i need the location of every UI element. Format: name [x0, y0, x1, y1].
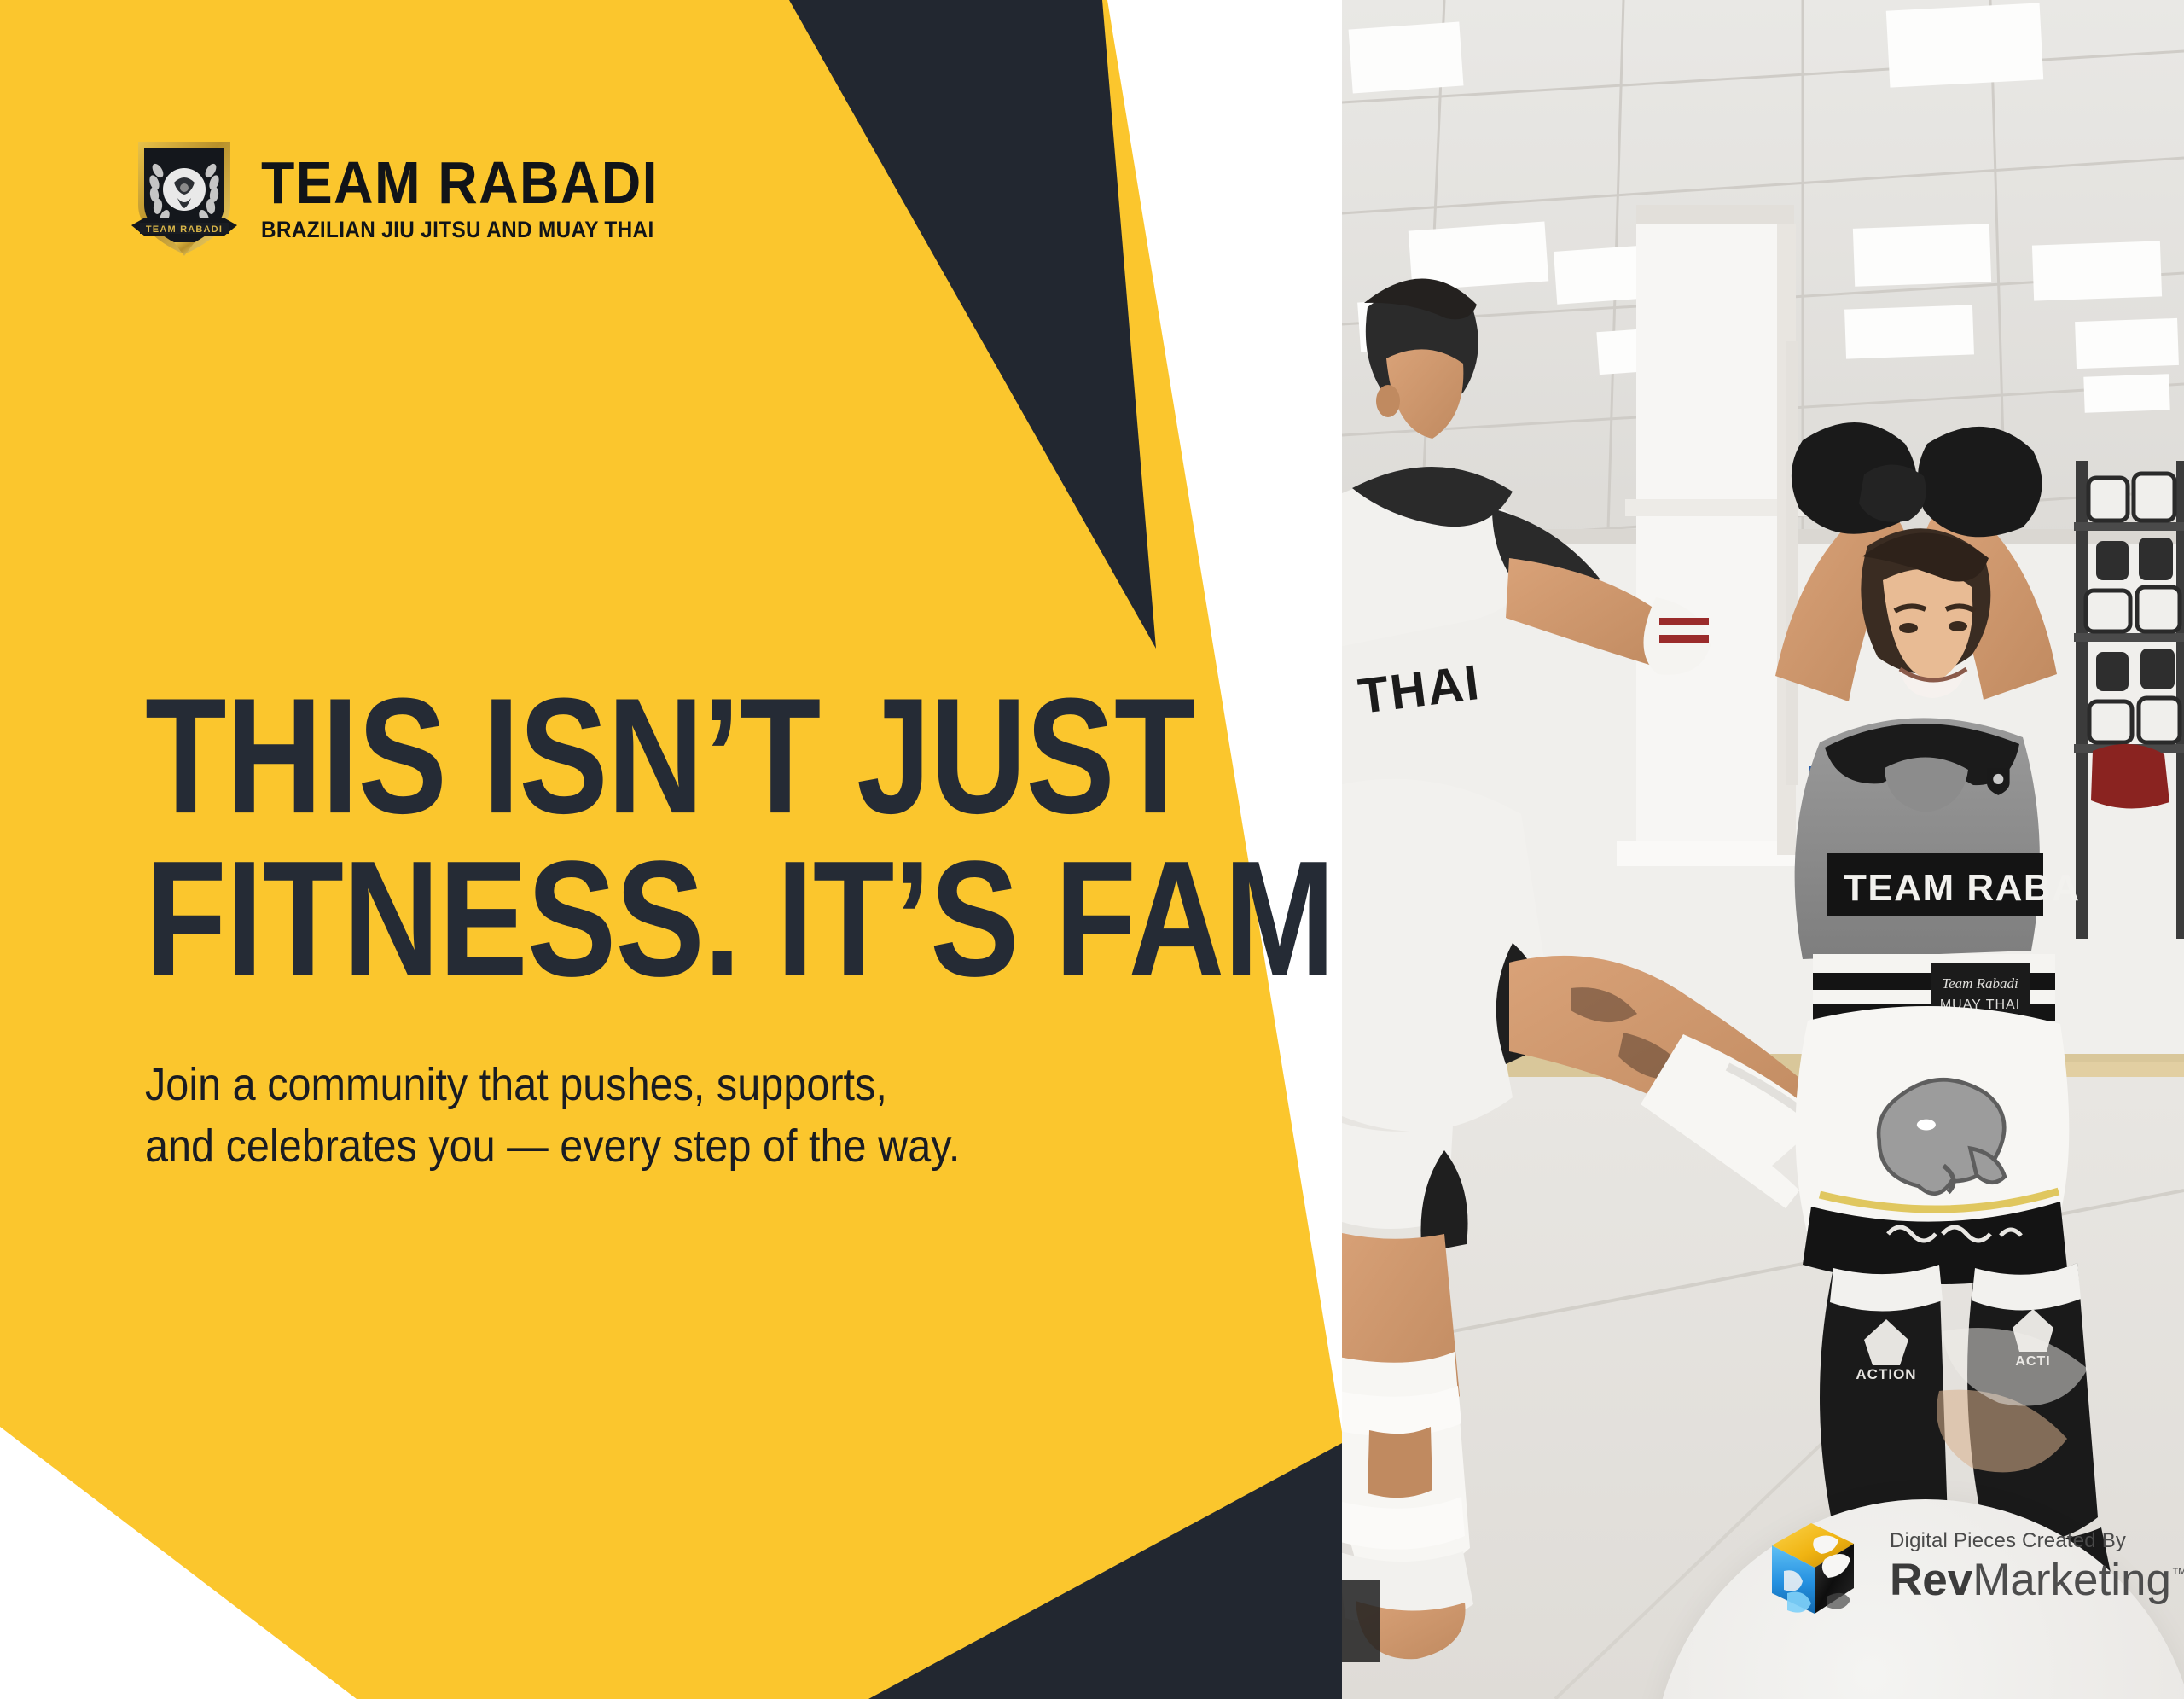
logo-wordmark: TEAM RABADI BRAZILIAN JIU JITSU AND MUAY…: [261, 154, 698, 245]
brand-name: TEAM RABADI: [261, 154, 663, 212]
headline: THIS ISN’T JUST FITNESS. IT’S FAMILY.: [145, 674, 1128, 1000]
revmarketing-credit[interactable]: Digital Pieces Created By RevMarketing™: [1762, 1515, 2184, 1619]
brand-tagline: BRAZILIAN JIU JITSU AND MUAY THAI: [261, 216, 654, 245]
credit-brand: RevMarketing™: [1890, 1556, 2184, 1604]
revmarketing-wordmark: Digital Pieces Created By RevMarketing™: [1890, 1529, 2184, 1604]
svg-text:Team Rabadi: Team Rabadi: [1942, 975, 2018, 992]
photo-illustration: THAI: [1342, 0, 2184, 1699]
revmarketing-cube-icon: [1762, 1515, 1864, 1619]
credit-kicker: Digital Pieces Created By: [1890, 1529, 2184, 1553]
subheadline-line-1: Join a community that pushes, supports,: [145, 1055, 1174, 1115]
credit-trademark: ™: [2171, 1566, 2184, 1584]
team-rabadi-shield-icon: TEAM RABADI: [130, 137, 239, 263]
hero-copy-block: THIS ISN’T JUST FITNESS. IT’S FAMILY. Jo…: [145, 674, 1288, 1177]
jersey-text-right: TEAM RABA: [1844, 867, 2080, 909]
subheadline-line-2: and celebrates you — every step of the w…: [145, 1116, 1174, 1177]
shield-banner-text: TEAM RABADI: [146, 224, 223, 235]
svg-text:ACTION: ACTION: [1856, 1366, 1916, 1382]
gym-training-photo: THAI: [1342, 0, 2184, 1699]
credit-brand-light: Marketing: [1972, 1555, 2171, 1605]
brand-logo-lockup: TEAM RABADI TEAM RABADI BRAZILIAN JIU JI…: [130, 137, 698, 263]
headline-line-2: FITNESS. IT’S FAMILY.: [145, 837, 1128, 1000]
headline-line-1: THIS ISN’T JUST: [145, 674, 1128, 837]
subheadline: Join a community that pushes, supports, …: [145, 1055, 1174, 1177]
poster-canvas: TEAM RABADI TEAM RABADI BRAZILIAN JIU JI…: [0, 0, 2184, 1699]
shield-emblem-figure: [163, 168, 206, 211]
credit-brand-bold: Rev: [1890, 1555, 1972, 1605]
